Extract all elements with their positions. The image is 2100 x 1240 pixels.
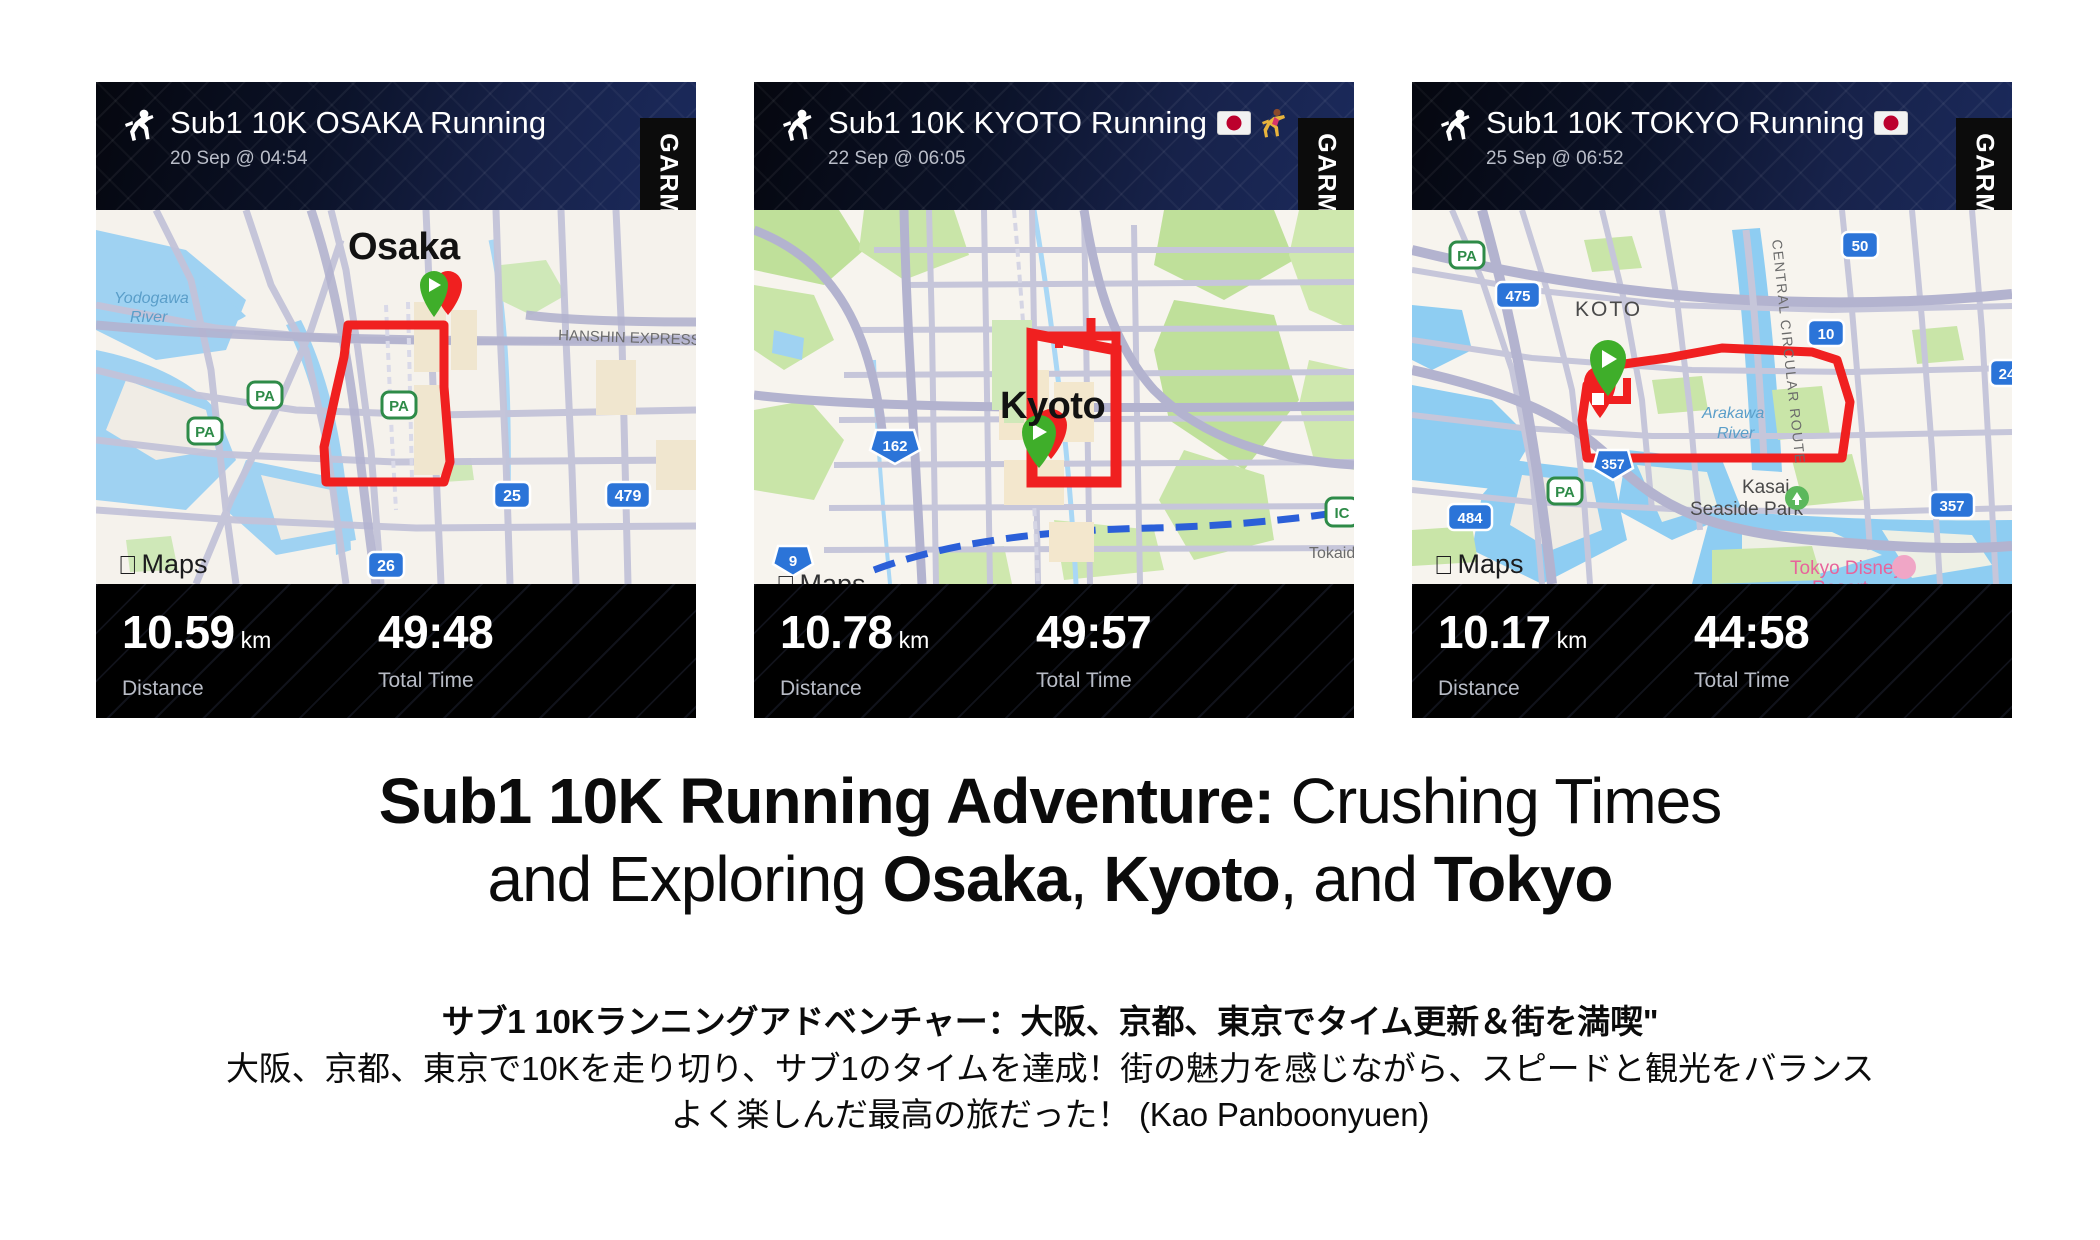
distance-unit: km	[1557, 627, 1588, 653]
headline-part-3: and Exploring	[487, 843, 882, 915]
maps-wordmark: Maps	[800, 571, 866, 584]
city-label: Kyoto	[1000, 385, 1105, 428]
stat-total-time: 49:57 Total Time	[1036, 606, 1292, 702]
svg-text:357: 357	[1601, 456, 1625, 472]
apple-logo-icon: 	[118, 552, 138, 578]
highway-shield-24: 24	[1990, 360, 2012, 386]
time-value: 44:58	[1694, 606, 1809, 658]
svg-text:PA: PA	[195, 424, 215, 441]
svg-text:PA: PA	[1555, 484, 1575, 501]
japanese-heading: サブ1 10Kランニングアドベンチャー：大阪、京都、東京でタイム更新＆街を満喫"	[150, 1000, 1950, 1044]
distance-value: 10.78	[780, 606, 893, 658]
highway-shield-10: 10	[1808, 320, 1844, 346]
headline-and: , and	[1280, 843, 1434, 915]
highway-shield-26: 26	[368, 552, 404, 578]
activity-title: Sub1 10K KYOTO Running	[828, 104, 1207, 142]
pa-shield-1: PA	[248, 382, 282, 408]
maps-wordmark: Maps	[142, 551, 208, 578]
maps-wordmark: Maps	[1458, 551, 1524, 578]
stats-panel: 10.59km Distance 49:48 Total Time	[96, 584, 696, 718]
svg-text:475: 475	[1505, 288, 1530, 305]
garmin-badge: GARMIN	[640, 118, 696, 210]
route-map-tokyo[interactable]: PA PA 475 484	[1412, 210, 2012, 584]
svg-text:10: 10	[1818, 326, 1835, 343]
distance-label: Distance	[780, 676, 1036, 702]
time-label: Total Time	[378, 668, 634, 694]
distance-value: 10.59	[122, 606, 235, 658]
apple-maps-attribution:  Maps	[776, 571, 866, 584]
japan-flag-icon	[1217, 111, 1251, 135]
map-label-tokaido: Tokaido S	[1309, 545, 1354, 562]
headline-part-bold-1: Sub1 10K Running Adventure:	[379, 765, 1274, 837]
svg-text:River: River	[130, 309, 168, 326]
activity-datetime: 20 Sep @ 04:54	[170, 146, 546, 172]
highway-shield-357-right: 357	[1930, 492, 1974, 518]
distance-label: Distance	[1438, 676, 1694, 702]
activity-title: Sub1 10K OSAKA Running	[170, 104, 546, 142]
page-headline: Sub1 10K Running Adventure: Crushing Tim…	[150, 762, 1950, 918]
distance-value: 10.17	[1438, 606, 1551, 658]
poster-root: GARMIN Sub1 10K OSAKA Running 20 Sep @ 0…	[0, 0, 2100, 1240]
japanese-body: 大阪、京都、東京で10Kを走り切り、サブ1のタイムを達成！街の魅力を感じながら、…	[150, 1046, 1950, 1138]
distance-unit: km	[241, 627, 272, 653]
headline-part-2: Crushing Times	[1274, 765, 1721, 837]
card-header: GARMIN Sub1 10K OSAKA Running 20 Sep @ 0…	[96, 82, 696, 210]
pa-shield-2: PA	[1548, 478, 1582, 504]
city-label: Osaka	[348, 226, 460, 269]
stat-distance: 10.78km Distance	[780, 606, 1036, 702]
stats-panel: 10.17km Distance 44:58 Total Time	[1412, 584, 2012, 718]
card-header: GARMIN Sub1 10K TOKYO Running 25 Sep @ 0…	[1412, 82, 2012, 210]
headline-kyoto: Kyoto	[1103, 843, 1279, 915]
distance-unit: km	[899, 627, 930, 653]
headline-tokyo: Tokyo	[1434, 843, 1613, 915]
map-canvas: PA PA 475 484	[1412, 210, 2012, 584]
activity-datetime: 22 Sep @ 06:05	[828, 146, 1287, 172]
svg-text:484: 484	[1457, 510, 1483, 527]
svg-text:479: 479	[615, 488, 642, 505]
highway-shield-25: 25	[494, 482, 530, 508]
svg-text:IC: IC	[1335, 505, 1350, 522]
time-label: Total Time	[1036, 668, 1292, 694]
garmin-badge: GARMIN	[1956, 118, 2012, 210]
map-label-river: Yodogawa	[114, 290, 189, 307]
route-map-osaka[interactable]: 25 479 26 PA	[96, 210, 696, 584]
activity-card-tokyo[interactable]: GARMIN Sub1 10K TOKYO Running 25 Sep @ 0…	[1412, 82, 2012, 718]
highway-shield-475: 475	[1496, 282, 1540, 308]
svg-text:26: 26	[377, 558, 395, 575]
stat-distance: 10.17km Distance	[1438, 606, 1694, 702]
running-icon	[1438, 108, 1472, 148]
svg-text:162: 162	[882, 438, 907, 455]
map-label-arakawa: Arakawa	[1701, 405, 1764, 422]
highway-shield-479: 479	[606, 482, 650, 508]
headline-comma-1: ,	[1070, 843, 1104, 915]
map-label-koto: KOTO	[1575, 298, 1642, 321]
stat-distance: 10.59km Distance	[122, 606, 378, 702]
japan-flag-icon	[1874, 111, 1908, 135]
svg-text:PA: PA	[1457, 248, 1477, 265]
route-map-kyoto[interactable]: 162 9 IC Tokaido S Kyoto	[754, 210, 1354, 584]
pa-shield-2: PA	[382, 392, 416, 418]
highway-shield-50: 50	[1842, 232, 1878, 258]
apple-logo-icon: 	[1434, 552, 1454, 578]
running-icon	[122, 108, 156, 148]
apple-maps-attribution:  Maps	[1434, 551, 1524, 578]
stat-total-time: 44:58 Total Time	[1694, 606, 1950, 702]
time-label: Total Time	[1694, 668, 1950, 694]
garmin-badge: GARMIN	[1298, 118, 1354, 210]
garmin-wordmark: GARMIN	[1970, 133, 1999, 210]
map-label-kasai: Kasai	[1742, 477, 1790, 498]
apple-logo-icon: 	[776, 572, 796, 584]
running-icon	[780, 108, 814, 148]
stats-panel: 10.78km Distance 49:57 Total Time	[754, 584, 1354, 718]
runner-emoji-icon	[1261, 108, 1287, 138]
card-header: GARMIN Sub1 10K KYOTO Running	[754, 82, 1354, 210]
time-value: 49:57	[1036, 606, 1151, 658]
svg-text:River: River	[1717, 425, 1755, 442]
distance-label: Distance	[122, 676, 378, 702]
time-value: 49:48	[378, 606, 493, 658]
garmin-wordmark: GARMIN	[654, 133, 683, 210]
headline-osaka: Osaka	[883, 843, 1070, 915]
svg-text:PA: PA	[255, 388, 275, 405]
highway-shield-484: 484	[1448, 504, 1492, 530]
apple-maps-attribution:  Maps	[118, 551, 208, 578]
pa-shield-1: PA	[1450, 242, 1484, 268]
svg-text:25: 25	[503, 488, 521, 505]
garmin-wordmark: GARMIN	[1312, 133, 1341, 210]
svg-text:PA: PA	[389, 398, 409, 415]
svg-text:9: 9	[789, 553, 797, 570]
svg-text:24: 24	[1999, 366, 2012, 383]
japanese-text-block: サブ1 10Kランニングアドベンチャー：大阪、京都、東京でタイム更新＆街を満喫"…	[150, 1000, 1950, 1138]
activity-datetime: 25 Sep @ 06:52	[1486, 146, 1908, 172]
map-label-disney: Tokyo Disney	[1790, 558, 1903, 579]
pa-shield-3: PA	[188, 418, 222, 444]
activity-title: Sub1 10K TOKYO Running	[1486, 104, 1864, 142]
ic-shield: IC	[1326, 498, 1354, 526]
svg-text:50: 50	[1852, 238, 1869, 255]
stat-total-time: 49:48 Total Time	[378, 606, 634, 702]
svg-text:357: 357	[1939, 498, 1964, 515]
activity-card-kyoto[interactable]: GARMIN Sub1 10K KYOTO Running	[754, 82, 1354, 718]
activity-card-row: GARMIN Sub1 10K OSAKA Running 20 Sep @ 0…	[96, 82, 2012, 718]
activity-card-osaka[interactable]: GARMIN Sub1 10K OSAKA Running 20 Sep @ 0…	[96, 82, 696, 718]
